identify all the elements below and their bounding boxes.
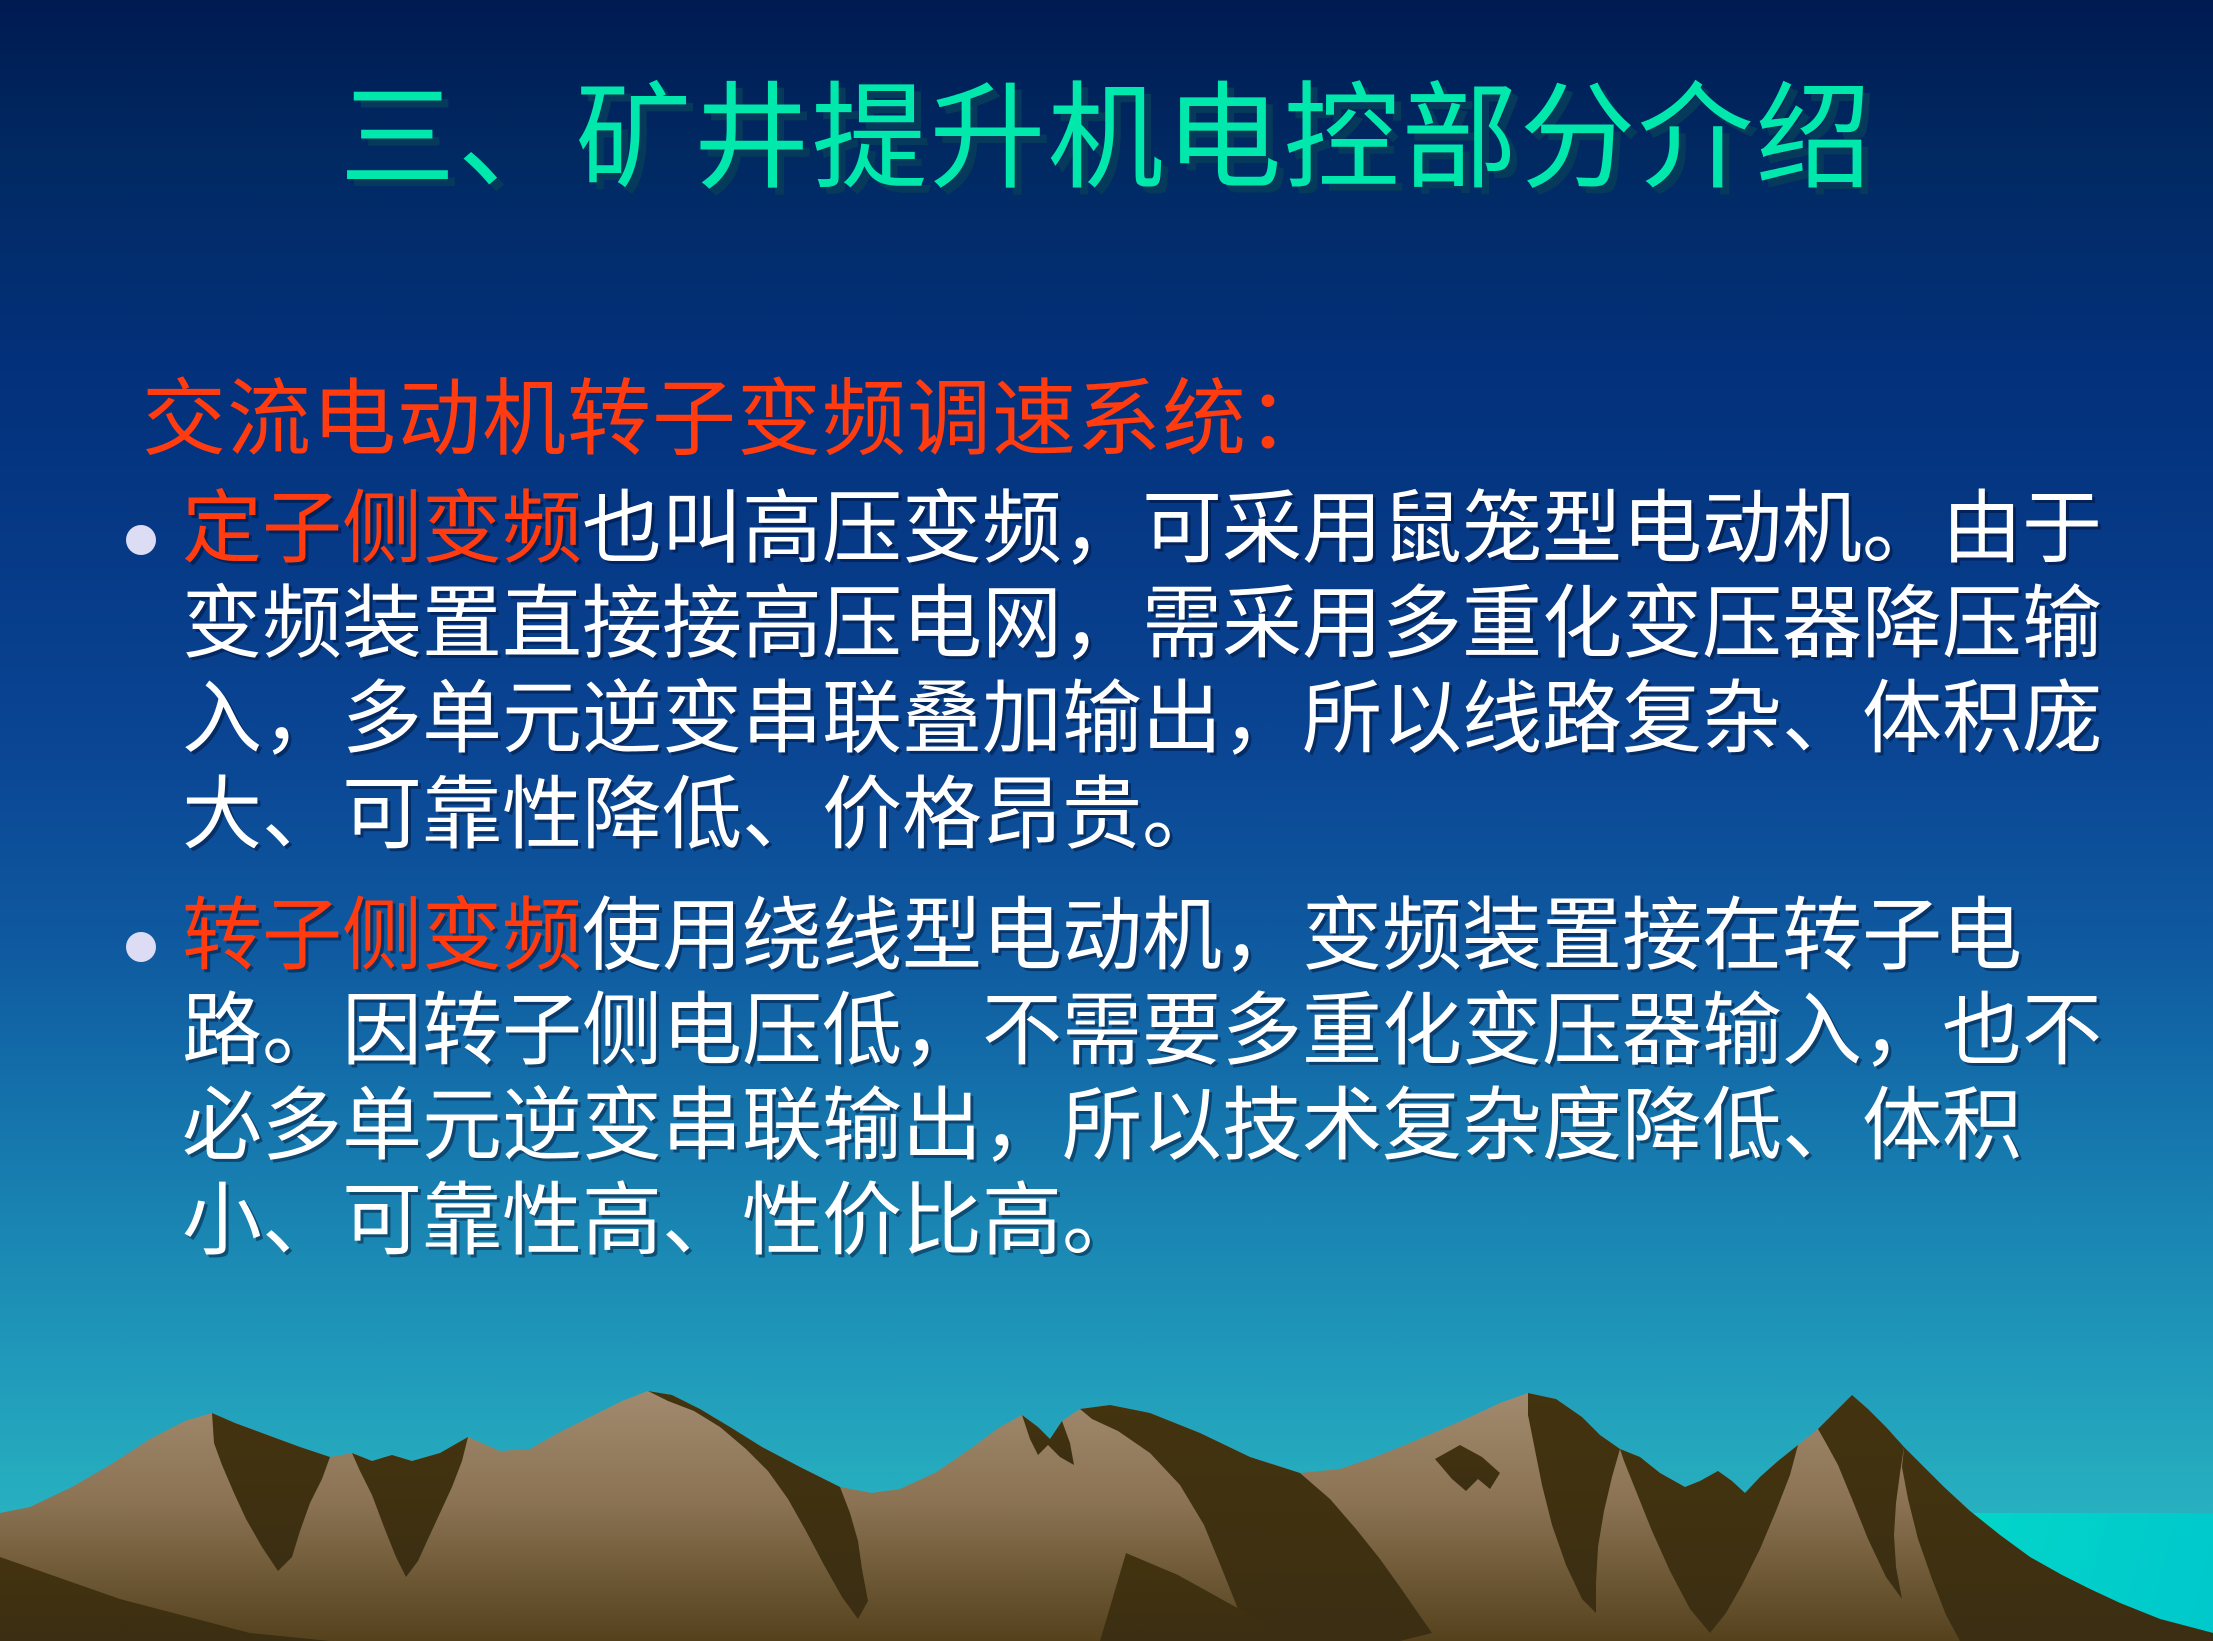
bullet-dot-icon bbox=[126, 525, 156, 555]
section-heading: 交流电动机转子变频调速系统： bbox=[142, 370, 2112, 469]
list-item: 转子侧变频使用绕线型电动机，变频装置接在转子电路。因转子侧电压低，不需要多重化变… bbox=[122, 888, 2112, 1269]
bullet-dot-icon bbox=[126, 932, 156, 962]
page-title: 三、矿井提升机电控部分介绍 bbox=[0, 76, 2213, 201]
presentation-slide: 三、矿井提升机电控部分介绍 交流电动机转子变频调速系统： 定子侧变频也叫高压变频… bbox=[0, 0, 2213, 1641]
mountain-range-silhouette bbox=[0, 1361, 2213, 1641]
slide-body: 交流电动机转子变频调速系统： 定子侧变频也叫高压变频，可采用鼠笼型电动机。由于变… bbox=[122, 370, 2112, 1295]
bullet-text-1: 定子侧变频也叫高压变频，可采用鼠笼型电动机。由于变频装置直接接高压电网，需采用多… bbox=[182, 481, 2112, 862]
bullet-lead-2: 转子侧变频 bbox=[182, 889, 582, 982]
list-item: 定子侧变频也叫高压变频，可采用鼠笼型电动机。由于变频装置直接接高压电网，需采用多… bbox=[122, 481, 2112, 862]
bullet-lead-1: 定子侧变频 bbox=[182, 482, 582, 575]
bullet-text-2: 转子侧变频使用绕线型电动机，变频装置接在转子电路。因转子侧电压低，不需要多重化变… bbox=[182, 888, 2112, 1269]
